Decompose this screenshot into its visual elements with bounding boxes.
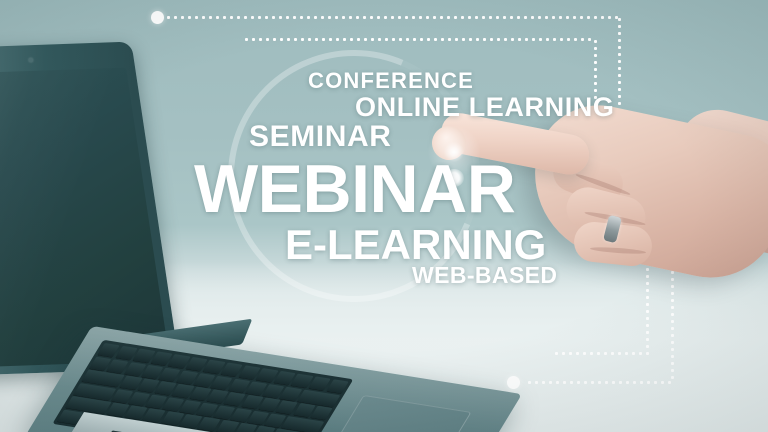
vignette-overlay xyxy=(0,0,768,432)
webinar-banner: CONFERENCE ONLINE LEARNING SEMINAR WEBIN… xyxy=(0,0,768,432)
